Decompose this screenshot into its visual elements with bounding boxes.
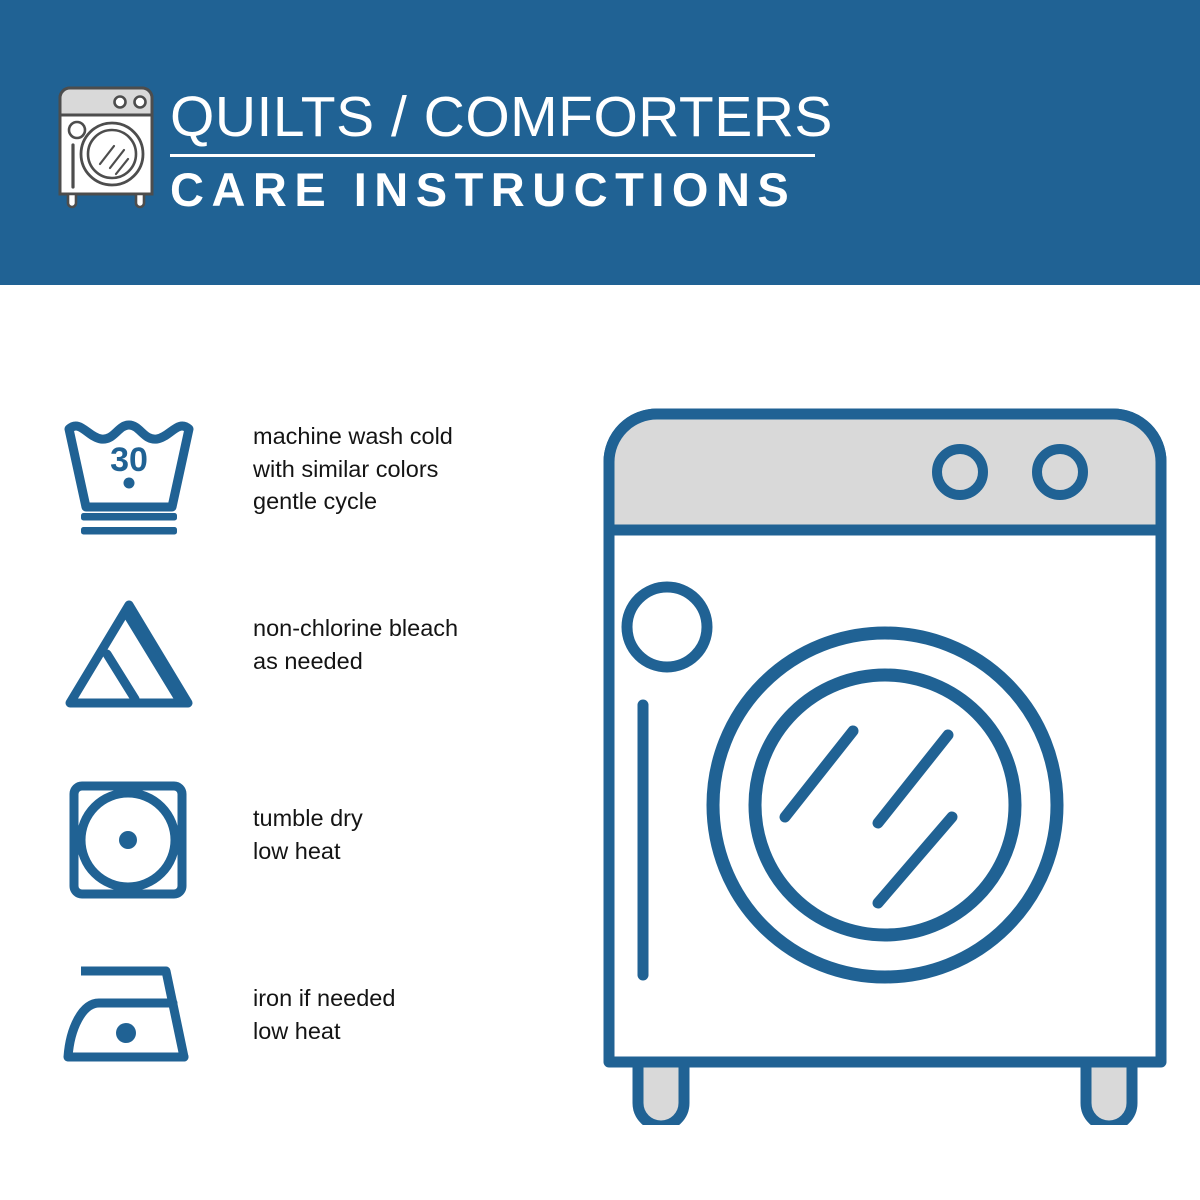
care-label-line: gentle cycle	[253, 485, 538, 518]
care-instruction-list: 30 machine wash cold with similar colors…	[0, 285, 560, 1200]
machine-knob-left	[937, 449, 983, 495]
page-subtitle: CARE INSTRUCTIONS	[170, 164, 815, 216]
bleach-triangle-icon	[60, 595, 200, 715]
care-label-line: with similar colors	[253, 453, 538, 486]
wash-tub-icon: 30	[60, 415, 200, 535]
tumble-dry-icon	[60, 780, 200, 900]
care-row-bleach: non-chlorine bleach as needed	[0, 595, 540, 725]
care-label-line: low heat	[253, 1015, 538, 1048]
machine-knob-right	[1037, 449, 1083, 495]
iron-icon	[60, 957, 200, 1077]
header-banner: QUILTS / COMFORTERS CARE INSTRUCTIONS	[0, 0, 1200, 285]
machine-indicator-light	[627, 587, 707, 667]
title-divider	[170, 154, 815, 157]
care-label-line: as needed	[253, 645, 538, 678]
care-label-bleach: non-chlorine bleach as needed	[253, 612, 538, 677]
care-row-tumble-dry: tumble dry low heat	[0, 780, 540, 910]
care-label-line: tumble dry	[253, 802, 538, 835]
wash-temperature-label: 30	[110, 441, 148, 479]
care-label-line: iron if needed	[253, 982, 538, 1015]
care-label-line: non-chlorine bleach	[253, 612, 538, 645]
care-label-machine-wash: machine wash cold with similar colors ge…	[253, 420, 538, 518]
care-label-tumble-dry: tumble dry low heat	[253, 802, 538, 867]
care-instructions-infographic: QUILTS / COMFORTERS CARE INSTRUCTIONS 30	[0, 0, 1200, 1200]
care-row-iron: iron if needed low heat	[0, 957, 540, 1087]
care-row-machine-wash: 30 machine wash cold with similar colors…	[0, 415, 540, 545]
care-label-line: low heat	[253, 835, 538, 868]
header-title-block: QUILTS / COMFORTERS CARE INSTRUCTIONS	[170, 86, 815, 216]
care-label-line: machine wash cold	[253, 420, 538, 453]
care-label-iron: iron if needed low heat	[253, 982, 538, 1047]
washing-machine-illustration	[600, 405, 1170, 1125]
page-title: QUILTS / COMFORTERS	[170, 86, 815, 148]
washing-machine-icon	[52, 82, 160, 212]
